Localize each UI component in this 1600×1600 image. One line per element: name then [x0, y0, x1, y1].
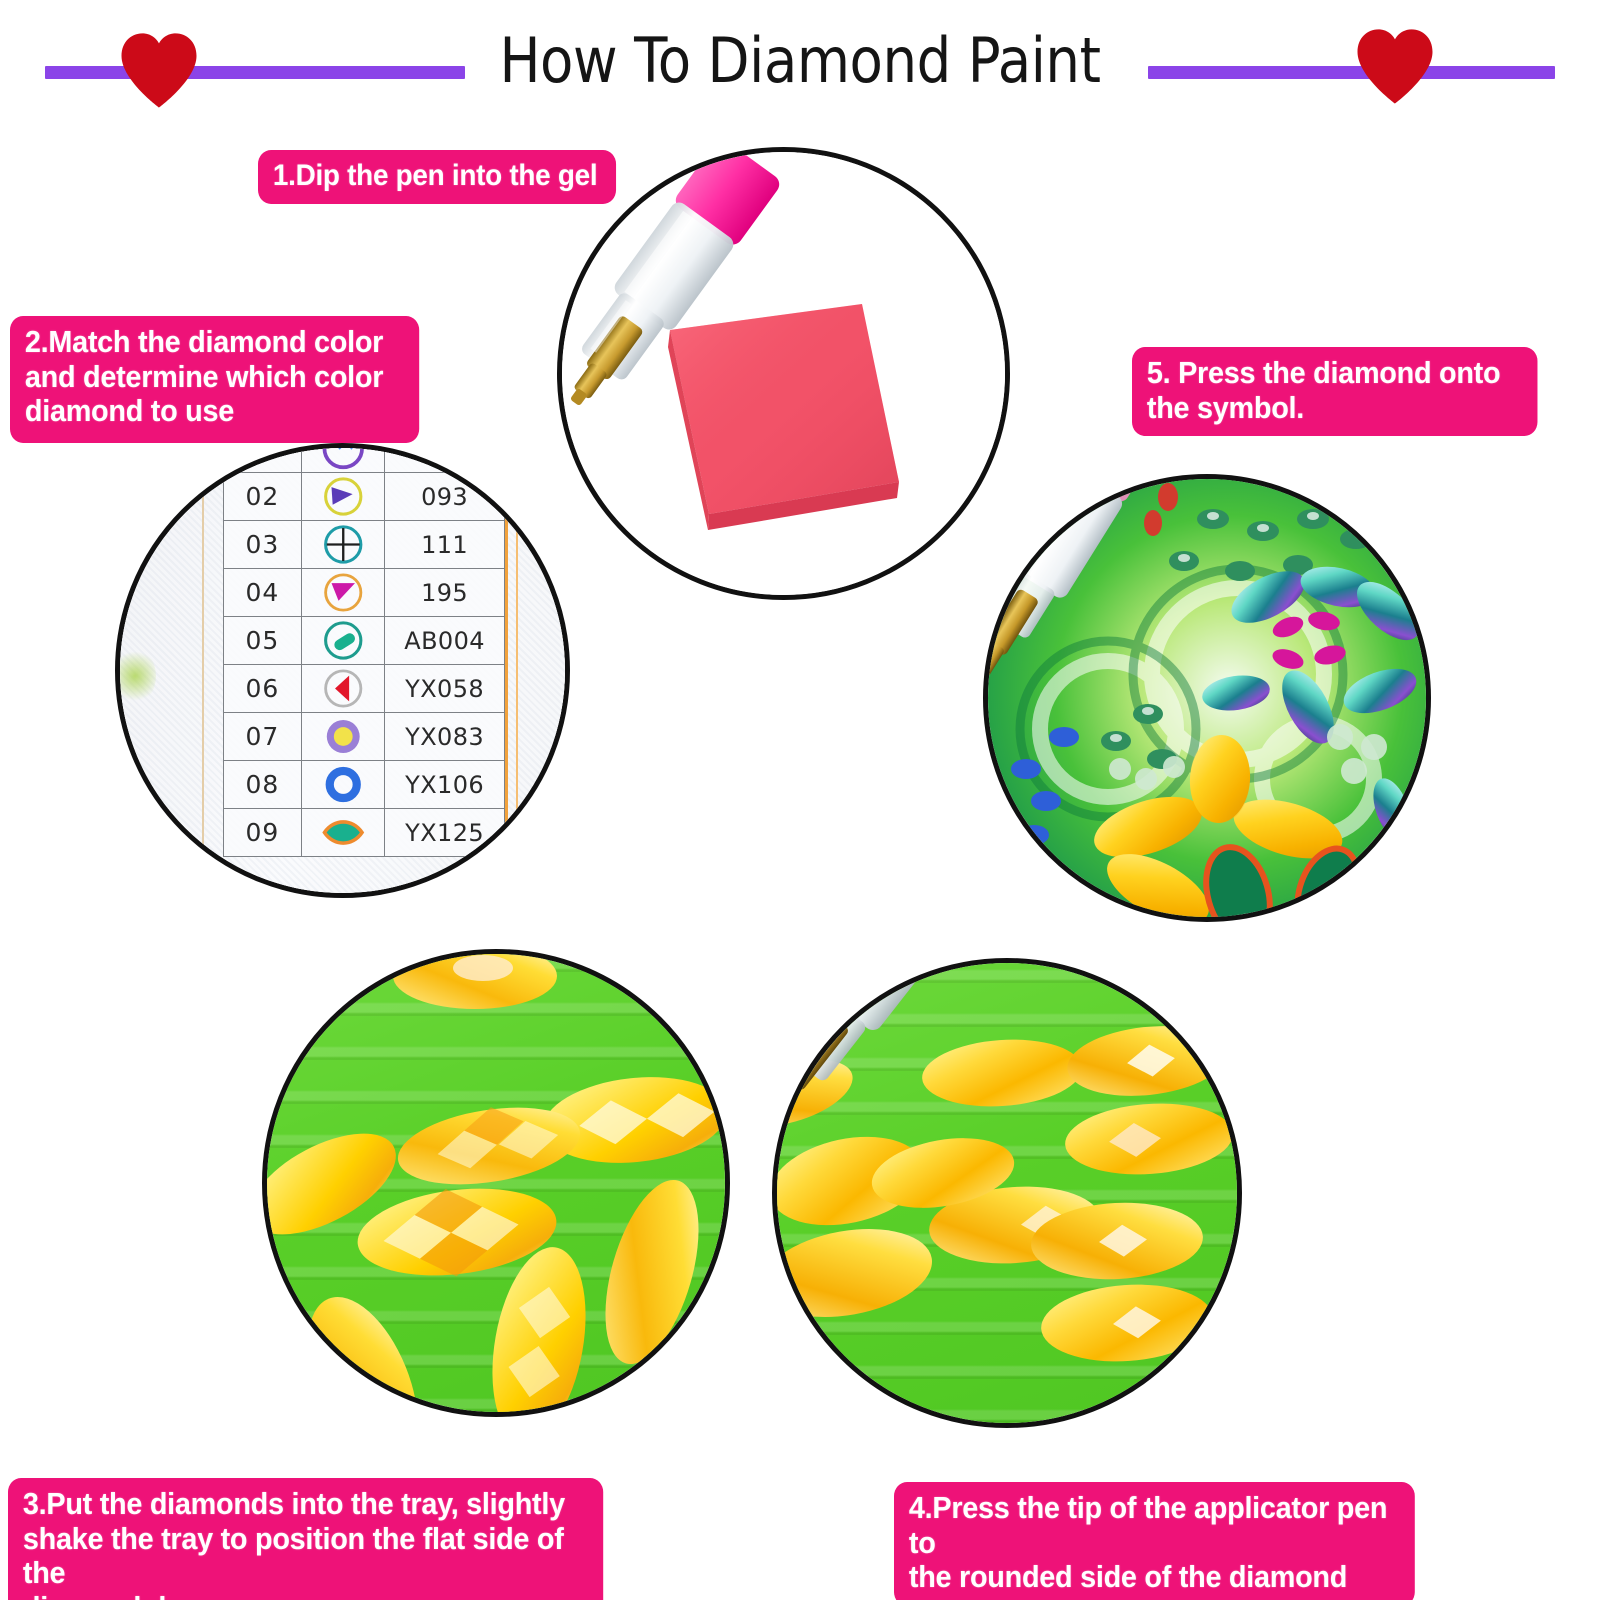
symbol-orange-circle-magenta-triangle-icon — [301, 569, 384, 617]
page-title: How To Diamond Paint — [96, 24, 1504, 97]
table-row: 08 YX106 — [224, 761, 505, 809]
yellow-marquise-diamonds — [267, 954, 725, 1412]
step-5-label: 5. Press the diamond onto the symbol. — [1132, 347, 1537, 436]
cell-code: 03 — [224, 521, 302, 569]
cell-dmc: YX106 — [385, 761, 505, 809]
step-4-line-1: 4.Press the tip of the applicator pen to — [909, 1491, 1400, 1560]
step-2-line-3: diamond to use — [25, 394, 404, 429]
cell-dmc: 111 — [385, 521, 505, 569]
table-row: 04 195 — [224, 569, 505, 617]
symbol-yellow-circle-purple-triangle-icon — [301, 473, 384, 521]
table-row: 02 093 — [224, 473, 505, 521]
table-row: 05 AB004 — [224, 617, 505, 665]
cell-code — [224, 443, 302, 473]
cell-code: 08 — [224, 761, 302, 809]
table-row: 06 YX058 — [224, 665, 505, 713]
step-5-line-2: the symbol. — [1147, 391, 1523, 426]
cell-dmc: YX083 — [385, 713, 505, 761]
step-1-line-1: 1.Dip the pen into the gel — [273, 159, 601, 193]
cell-dmc: AB004 — [385, 617, 505, 665]
step-3-line-2: shake the tray to position the flat side… — [23, 1522, 588, 1591]
symbol-chart-photo: 028 02 093 03 111 04 — [120, 448, 565, 893]
symbol-purple-circle-two-blue-diamonds-icon — [301, 443, 384, 473]
chart-edge-line-left — [202, 448, 204, 893]
chart-edge-line-right-2 — [516, 448, 518, 893]
step-5-line-1: 5. Press the diamond onto — [1147, 356, 1523, 391]
step-3-line-1: 3.Put the diamonds into the tray, slight… — [23, 1487, 588, 1522]
cell-dmc: 028 — [385, 443, 505, 473]
cell-code: 02 — [224, 473, 302, 521]
step-5-photo-pressing-onto-canvas — [983, 474, 1431, 922]
table-row: 09 YX125 — [224, 809, 505, 857]
pen-gel-illustration — [562, 152, 1005, 595]
cell-code: 05 — [224, 617, 302, 665]
symbol-grey-circle-red-chevron-icon — [301, 665, 384, 713]
step-2-photo-symbol-chart: 028 02 093 03 111 04 — [115, 443, 570, 898]
step-4-label: 4.Press the tip of the applicator pen to… — [894, 1482, 1415, 1600]
step-3-line-3: diamond down — [23, 1591, 588, 1600]
cell-code: 04 — [224, 569, 302, 617]
symbol-teal-circle-green-capsule-icon — [301, 617, 384, 665]
table-row-partial: 028 — [224, 443, 505, 473]
step-2-label: 2.Match the diamond color and determine … — [10, 316, 419, 443]
table-row: 07 YX083 — [224, 713, 505, 761]
step-1-label: 1.Dip the pen into the gel — [258, 150, 616, 204]
table-row: 03 111 — [224, 521, 505, 569]
step-4-line-2: the rounded side of the diamond — [909, 1560, 1400, 1595]
step-3-photo-diamonds-in-tray — [262, 949, 730, 1417]
cell-code: 07 — [224, 713, 302, 761]
green-paint-smudge — [115, 648, 156, 704]
symbol-legend-table: 028 02 093 03 111 04 — [223, 443, 505, 857]
step-1-photo-pen-dipping-gel — [557, 147, 1010, 600]
infographic-page: How To Diamond Paint 1.Dip the pen into … — [0, 0, 1600, 1600]
chart-edge-line-right-1 — [505, 448, 508, 893]
canvas-mandala-illustration — [988, 479, 1426, 917]
step-4-photo-pen-picking-diamond — [772, 958, 1242, 1428]
cell-dmc: YX058 — [385, 665, 505, 713]
step-3-label: 3.Put the diamonds into the tray, slight… — [8, 1478, 603, 1600]
symbol-purple-ring-yellow-center-icon — [301, 713, 384, 761]
cell-dmc: 093 — [385, 473, 505, 521]
step-2-line-1: 2.Match the diamond color — [25, 325, 404, 360]
cell-dmc: YX125 — [385, 809, 505, 857]
cell-code: 06 — [224, 665, 302, 713]
step-2-line-2: and determine which color — [25, 360, 404, 395]
symbol-orange-outline-green-leaf-icon — [301, 809, 384, 857]
pen-and-diamonds-illustration — [777, 963, 1237, 1423]
symbol-teal-circle-black-plus-icon — [301, 521, 384, 569]
cell-dmc: 195 — [385, 569, 505, 617]
cell-code: 09 — [224, 809, 302, 857]
symbol-blue-open-ring-icon — [301, 761, 384, 809]
